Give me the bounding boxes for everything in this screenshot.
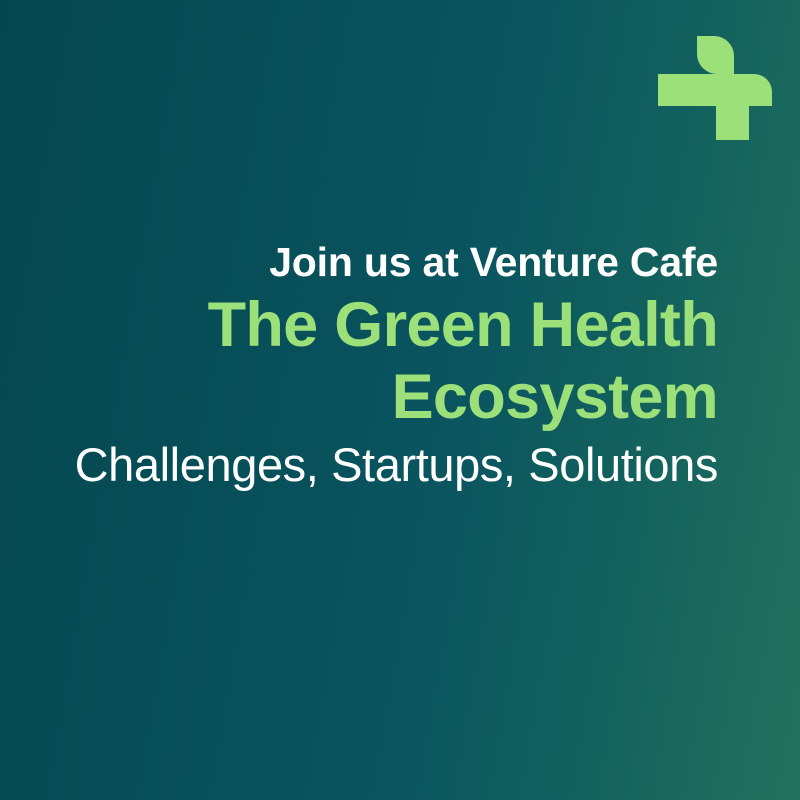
promo-poster: Join us at Venture Cafe The Green Health…	[0, 0, 800, 800]
poster-subhead: Challenges, Startups, Solutions	[58, 437, 718, 493]
poster-text-block: Join us at Venture Cafe The Green Health…	[58, 238, 718, 493]
poster-eyebrow: Join us at Venture Cafe	[58, 238, 718, 286]
green-health-cross-leaf-logo	[656, 16, 774, 140]
poster-headline: The Green Health Ecosystem	[58, 290, 718, 432]
